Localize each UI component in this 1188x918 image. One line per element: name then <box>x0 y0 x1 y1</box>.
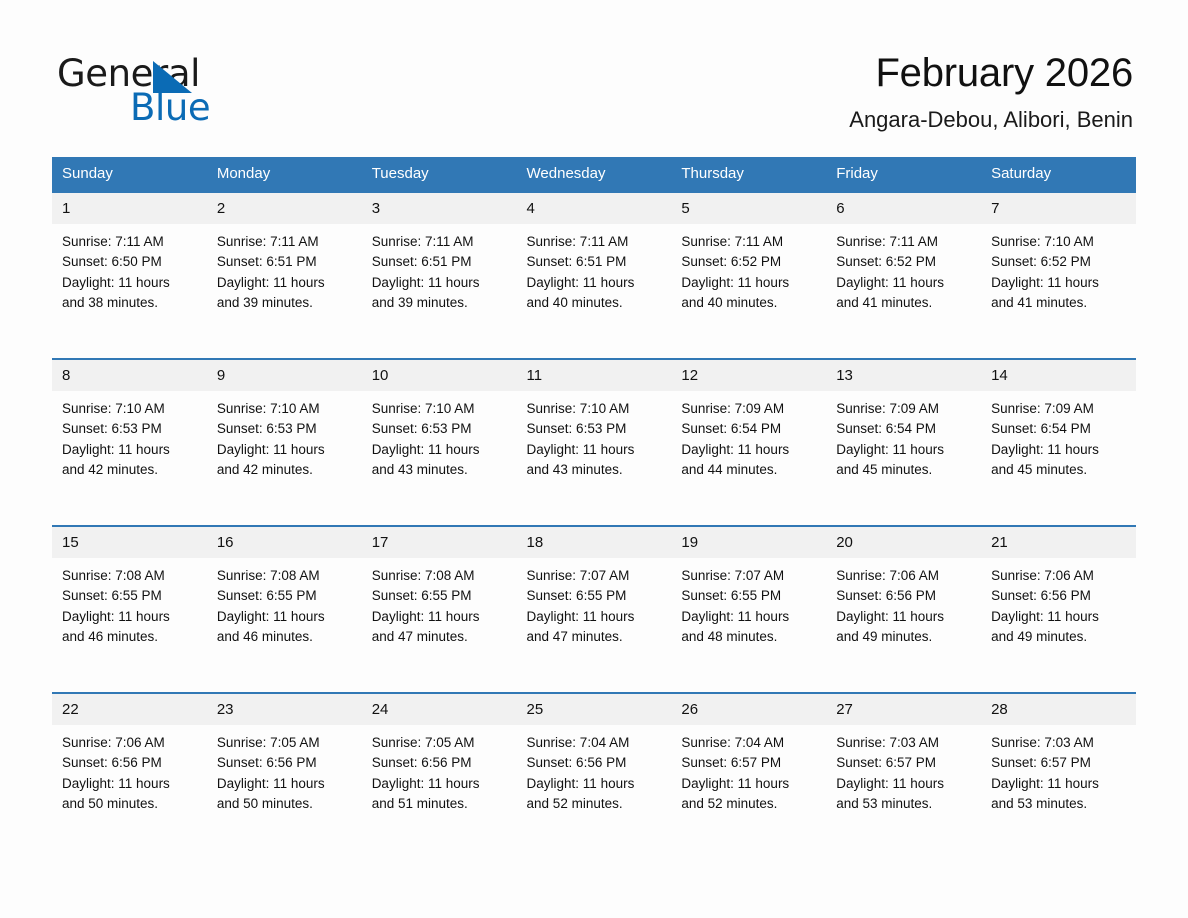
day-cell[interactable]: 5 Sunrise: 7:11 AM Sunset: 6:52 PM Dayli… <box>671 192 826 359</box>
day-details: Sunrise: 7:03 AM Sunset: 6:57 PM Dayligh… <box>981 725 1136 814</box>
day-details: Sunrise: 7:05 AM Sunset: 6:56 PM Dayligh… <box>362 725 517 814</box>
day-details: Sunrise: 7:10 AM Sunset: 6:53 PM Dayligh… <box>362 391 517 480</box>
daylight-text-line1: Daylight: 11 hours <box>527 273 664 293</box>
day-details: Sunrise: 7:07 AM Sunset: 6:55 PM Dayligh… <box>517 558 672 647</box>
sunset-text: Sunset: 6:57 PM <box>836 753 973 773</box>
daylight-text-line1: Daylight: 11 hours <box>217 607 354 627</box>
sunrise-text: Sunrise: 7:05 AM <box>217 733 354 753</box>
day-number: 16 <box>207 527 362 558</box>
day-cell[interactable]: 10 Sunrise: 7:10 AM Sunset: 6:53 PM Dayl… <box>362 359 517 526</box>
sunrise-text: Sunrise: 7:11 AM <box>62 232 199 252</box>
daylight-text-line1: Daylight: 11 hours <box>217 273 354 293</box>
daylight-text-line2: and 50 minutes. <box>62 794 199 814</box>
sunset-text: Sunset: 6:55 PM <box>217 586 354 606</box>
sunset-text: Sunset: 6:52 PM <box>991 252 1128 272</box>
page-subtitle: Angara-Debou, Alibori, Benin <box>849 106 1133 134</box>
day-number: 8 <box>52 360 207 391</box>
day-details: Sunrise: 7:03 AM Sunset: 6:57 PM Dayligh… <box>826 725 981 814</box>
sunrise-text: Sunrise: 7:08 AM <box>372 566 509 586</box>
sunset-text: Sunset: 6:52 PM <box>836 252 973 272</box>
day-number: 1 <box>52 193 207 224</box>
daylight-text-line2: and 50 minutes. <box>217 794 354 814</box>
sunset-text: Sunset: 6:56 PM <box>991 586 1128 606</box>
sunset-text: Sunset: 6:57 PM <box>681 753 818 773</box>
day-cell[interactable]: 6 Sunrise: 7:11 AM Sunset: 6:52 PM Dayli… <box>826 192 981 359</box>
day-number: 27 <box>826 694 981 725</box>
day-details: Sunrise: 7:11 AM Sunset: 6:50 PM Dayligh… <box>52 224 207 313</box>
daylight-text-line2: and 53 minutes. <box>836 794 973 814</box>
sunrise-text: Sunrise: 7:07 AM <box>681 566 818 586</box>
daylight-text-line2: and 41 minutes. <box>836 293 973 313</box>
sunset-text: Sunset: 6:52 PM <box>681 252 818 272</box>
day-cell[interactable]: 28 Sunrise: 7:03 AM Sunset: 6:57 PM Dayl… <box>981 693 1136 859</box>
day-number: 14 <box>981 360 1136 391</box>
calendar-header-row: Sunday Monday Tuesday Wednesday Thursday… <box>52 157 1136 192</box>
sunset-text: Sunset: 6:57 PM <box>991 753 1128 773</box>
sunrise-text: Sunrise: 7:11 AM <box>372 232 509 252</box>
page-header: General Blue February 2026 Angara-Debou,… <box>0 0 1188 155</box>
sunrise-text: Sunrise: 7:03 AM <box>991 733 1128 753</box>
daylight-text-line2: and 48 minutes. <box>681 627 818 647</box>
weekday-header-wednesday: Wednesday <box>517 157 672 192</box>
daylight-text-line1: Daylight: 11 hours <box>217 440 354 460</box>
calendar-week-row: 15 Sunrise: 7:08 AM Sunset: 6:55 PM Dayl… <box>52 526 1136 693</box>
daylight-text-line2: and 52 minutes. <box>681 794 818 814</box>
sunrise-text: Sunrise: 7:10 AM <box>217 399 354 419</box>
sunrise-text: Sunrise: 7:03 AM <box>836 733 973 753</box>
daylight-text-line2: and 46 minutes. <box>62 627 199 647</box>
sunset-text: Sunset: 6:54 PM <box>991 419 1128 439</box>
page-title: February 2026 <box>849 48 1133 98</box>
day-details: Sunrise: 7:06 AM Sunset: 6:56 PM Dayligh… <box>52 725 207 814</box>
sunset-text: Sunset: 6:50 PM <box>62 252 199 272</box>
sunset-text: Sunset: 6:56 PM <box>217 753 354 773</box>
day-number: 24 <box>362 694 517 725</box>
sunrise-text: Sunrise: 7:07 AM <box>527 566 664 586</box>
day-details: Sunrise: 7:08 AM Sunset: 6:55 PM Dayligh… <box>52 558 207 647</box>
daylight-text-line1: Daylight: 11 hours <box>527 774 664 794</box>
day-number: 15 <box>52 527 207 558</box>
daylight-text-line2: and 45 minutes. <box>991 460 1128 480</box>
day-details: Sunrise: 7:07 AM Sunset: 6:55 PM Dayligh… <box>671 558 826 647</box>
day-cell[interactable]: 9 Sunrise: 7:10 AM Sunset: 6:53 PM Dayli… <box>207 359 362 526</box>
day-cell[interactable]: 14 Sunrise: 7:09 AM Sunset: 6:54 PM Dayl… <box>981 359 1136 526</box>
day-cell[interactable]: 23 Sunrise: 7:05 AM Sunset: 6:56 PM Dayl… <box>207 693 362 859</box>
daylight-text-line1: Daylight: 11 hours <box>527 607 664 627</box>
calendar-week-row: 8 Sunrise: 7:10 AM Sunset: 6:53 PM Dayli… <box>52 359 1136 526</box>
day-cell[interactable]: 18 Sunrise: 7:07 AM Sunset: 6:55 PM Dayl… <box>517 526 672 693</box>
daylight-text-line1: Daylight: 11 hours <box>836 273 973 293</box>
sunrise-text: Sunrise: 7:06 AM <box>991 566 1128 586</box>
day-number: 19 <box>671 527 826 558</box>
daylight-text-line2: and 42 minutes. <box>217 460 354 480</box>
day-details: Sunrise: 7:06 AM Sunset: 6:56 PM Dayligh… <box>826 558 981 647</box>
daylight-text-line2: and 42 minutes. <box>62 460 199 480</box>
day-details: Sunrise: 7:10 AM Sunset: 6:53 PM Dayligh… <box>207 391 362 480</box>
daylight-text-line2: and 49 minutes. <box>991 627 1128 647</box>
day-number: 18 <box>517 527 672 558</box>
daylight-text-line1: Daylight: 11 hours <box>836 440 973 460</box>
day-number: 5 <box>671 193 826 224</box>
daylight-text-line2: and 41 minutes. <box>991 293 1128 313</box>
sunrise-text: Sunrise: 7:05 AM <box>372 733 509 753</box>
daylight-text-line2: and 43 minutes. <box>372 460 509 480</box>
sunrise-text: Sunrise: 7:10 AM <box>372 399 509 419</box>
daylight-text-line2: and 39 minutes. <box>217 293 354 313</box>
sunset-text: Sunset: 6:56 PM <box>372 753 509 773</box>
daylight-text-line1: Daylight: 11 hours <box>372 440 509 460</box>
sunrise-text: Sunrise: 7:08 AM <box>217 566 354 586</box>
daylight-text-line2: and 52 minutes. <box>527 794 664 814</box>
day-cell[interactable]: 8 Sunrise: 7:10 AM Sunset: 6:53 PM Dayli… <box>52 359 207 526</box>
day-details: Sunrise: 7:11 AM Sunset: 6:52 PM Dayligh… <box>826 224 981 313</box>
day-number: 3 <box>362 193 517 224</box>
weekday-header-sunday: Sunday <box>52 157 207 192</box>
calendar-page: General Blue February 2026 Angara-Debou,… <box>0 0 1188 918</box>
sunset-text: Sunset: 6:53 PM <box>527 419 664 439</box>
day-details: Sunrise: 7:09 AM Sunset: 6:54 PM Dayligh… <box>826 391 981 480</box>
day-details: Sunrise: 7:08 AM Sunset: 6:55 PM Dayligh… <box>362 558 517 647</box>
day-details: Sunrise: 7:04 AM Sunset: 6:56 PM Dayligh… <box>517 725 672 814</box>
day-details: Sunrise: 7:05 AM Sunset: 6:56 PM Dayligh… <box>207 725 362 814</box>
daylight-text-line1: Daylight: 11 hours <box>372 774 509 794</box>
sunrise-text: Sunrise: 7:11 AM <box>836 232 973 252</box>
day-cell[interactable]: 25 Sunrise: 7:04 AM Sunset: 6:56 PM Dayl… <box>517 693 672 859</box>
sunset-text: Sunset: 6:51 PM <box>217 252 354 272</box>
day-cell[interactable]: 27 Sunrise: 7:03 AM Sunset: 6:57 PM Dayl… <box>826 693 981 859</box>
day-number: 28 <box>981 694 1136 725</box>
day-details: Sunrise: 7:10 AM Sunset: 6:53 PM Dayligh… <box>52 391 207 480</box>
day-cell[interactable]: 12 Sunrise: 7:09 AM Sunset: 6:54 PM Dayl… <box>671 359 826 526</box>
daylight-text-line1: Daylight: 11 hours <box>62 440 199 460</box>
sunset-text: Sunset: 6:53 PM <box>62 419 199 439</box>
calendar-week-row: 1 Sunrise: 7:11 AM Sunset: 6:50 PM Dayli… <box>52 192 1136 359</box>
day-cell[interactable]: 2 Sunrise: 7:11 AM Sunset: 6:51 PM Dayli… <box>207 192 362 359</box>
day-number: 12 <box>671 360 826 391</box>
title-block: February 2026 Angara-Debou, Alibori, Ben… <box>849 48 1133 134</box>
sunrise-text: Sunrise: 7:10 AM <box>62 399 199 419</box>
day-details: Sunrise: 7:06 AM Sunset: 6:56 PM Dayligh… <box>981 558 1136 647</box>
sunrise-text: Sunrise: 7:09 AM <box>681 399 818 419</box>
day-cell[interactable]: 19 Sunrise: 7:07 AM Sunset: 6:55 PM Dayl… <box>671 526 826 693</box>
weekday-header-monday: Monday <box>207 157 362 192</box>
day-number: 9 <box>207 360 362 391</box>
day-details: Sunrise: 7:10 AM Sunset: 6:53 PM Dayligh… <box>517 391 672 480</box>
day-cell[interactable]: 7 Sunrise: 7:10 AM Sunset: 6:52 PM Dayli… <box>981 192 1136 359</box>
sunrise-text: Sunrise: 7:11 AM <box>527 232 664 252</box>
sunset-text: Sunset: 6:55 PM <box>681 586 818 606</box>
calendar-week-row: 22 Sunrise: 7:06 AM Sunset: 6:56 PM Dayl… <box>52 693 1136 859</box>
day-number: 22 <box>52 694 207 725</box>
day-number: 25 <box>517 694 672 725</box>
day-number: 6 <box>826 193 981 224</box>
day-details: Sunrise: 7:11 AM Sunset: 6:52 PM Dayligh… <box>671 224 826 313</box>
sunrise-text: Sunrise: 7:10 AM <box>991 232 1128 252</box>
logo-text-blue: Blue <box>130 86 210 130</box>
day-cell[interactable]: 21 Sunrise: 7:06 AM Sunset: 6:56 PM Dayl… <box>981 526 1136 693</box>
day-cell[interactable]: 1 Sunrise: 7:11 AM Sunset: 6:50 PM Dayli… <box>52 192 207 359</box>
day-number: 10 <box>362 360 517 391</box>
daylight-text-line1: Daylight: 11 hours <box>836 607 973 627</box>
daylight-text-line1: Daylight: 11 hours <box>681 273 818 293</box>
day-number: 13 <box>826 360 981 391</box>
day-details: Sunrise: 7:09 AM Sunset: 6:54 PM Dayligh… <box>671 391 826 480</box>
daylight-text-line1: Daylight: 11 hours <box>372 273 509 293</box>
daylight-text-line2: and 49 minutes. <box>836 627 973 647</box>
daylight-text-line1: Daylight: 11 hours <box>217 774 354 794</box>
daylight-text-line1: Daylight: 11 hours <box>991 440 1128 460</box>
sunset-text: Sunset: 6:51 PM <box>372 252 509 272</box>
sunset-text: Sunset: 6:51 PM <box>527 252 664 272</box>
day-number: 21 <box>981 527 1136 558</box>
weekday-header-tuesday: Tuesday <box>362 157 517 192</box>
day-cell[interactable]: 13 Sunrise: 7:09 AM Sunset: 6:54 PM Dayl… <box>826 359 981 526</box>
sunrise-sunset-calendar: Sunday Monday Tuesday Wednesday Thursday… <box>52 157 1136 859</box>
sunrise-text: Sunrise: 7:04 AM <box>681 733 818 753</box>
day-cell[interactable]: 15 Sunrise: 7:08 AM Sunset: 6:55 PM Dayl… <box>52 526 207 693</box>
day-cell[interactable]: 22 Sunrise: 7:06 AM Sunset: 6:56 PM Dayl… <box>52 693 207 859</box>
daylight-text-line1: Daylight: 11 hours <box>681 774 818 794</box>
day-number: 23 <box>207 694 362 725</box>
sunrise-text: Sunrise: 7:09 AM <box>991 399 1128 419</box>
sunrise-text: Sunrise: 7:08 AM <box>62 566 199 586</box>
generalblue-logo[interactable]: General Blue <box>57 52 317 130</box>
day-number: 7 <box>981 193 1136 224</box>
daylight-text-line1: Daylight: 11 hours <box>991 774 1128 794</box>
day-details: Sunrise: 7:10 AM Sunset: 6:52 PM Dayligh… <box>981 224 1136 313</box>
day-details: Sunrise: 7:04 AM Sunset: 6:57 PM Dayligh… <box>671 725 826 814</box>
day-details: Sunrise: 7:11 AM Sunset: 6:51 PM Dayligh… <box>362 224 517 313</box>
daylight-text-line1: Daylight: 11 hours <box>62 607 199 627</box>
day-number: 26 <box>671 694 826 725</box>
daylight-text-line2: and 53 minutes. <box>991 794 1128 814</box>
weekday-header-thursday: Thursday <box>671 157 826 192</box>
day-cell[interactable]: 24 Sunrise: 7:05 AM Sunset: 6:56 PM Dayl… <box>362 693 517 859</box>
sunset-text: Sunset: 6:55 PM <box>62 586 199 606</box>
day-details: Sunrise: 7:11 AM Sunset: 6:51 PM Dayligh… <box>207 224 362 313</box>
daylight-text-line1: Daylight: 11 hours <box>681 607 818 627</box>
daylight-text-line2: and 44 minutes. <box>681 460 818 480</box>
sunset-text: Sunset: 6:53 PM <box>217 419 354 439</box>
sunset-text: Sunset: 6:55 PM <box>372 586 509 606</box>
sunset-text: Sunset: 6:54 PM <box>836 419 973 439</box>
daylight-text-line1: Daylight: 11 hours <box>836 774 973 794</box>
calendar-body: 1 Sunrise: 7:11 AM Sunset: 6:50 PM Dayli… <box>52 192 1136 859</box>
day-number: 20 <box>826 527 981 558</box>
daylight-text-line2: and 39 minutes. <box>372 293 509 313</box>
day-number: 11 <box>517 360 672 391</box>
sunset-text: Sunset: 6:55 PM <box>527 586 664 606</box>
sunrise-text: Sunrise: 7:06 AM <box>62 733 199 753</box>
daylight-text-line1: Daylight: 11 hours <box>991 607 1128 627</box>
sunset-text: Sunset: 6:56 PM <box>836 586 973 606</box>
weekday-header-friday: Friday <box>826 157 981 192</box>
day-details: Sunrise: 7:08 AM Sunset: 6:55 PM Dayligh… <box>207 558 362 647</box>
day-cell[interactable]: 4 Sunrise: 7:11 AM Sunset: 6:51 PM Dayli… <box>517 192 672 359</box>
daylight-text-line2: and 45 minutes. <box>836 460 973 480</box>
day-cell[interactable]: 26 Sunrise: 7:04 AM Sunset: 6:57 PM Dayl… <box>671 693 826 859</box>
day-cell[interactable]: 3 Sunrise: 7:11 AM Sunset: 6:51 PM Dayli… <box>362 192 517 359</box>
daylight-text-line2: and 51 minutes. <box>372 794 509 814</box>
day-details: Sunrise: 7:11 AM Sunset: 6:51 PM Dayligh… <box>517 224 672 313</box>
day-cell[interactable]: 11 Sunrise: 7:10 AM Sunset: 6:53 PM Dayl… <box>517 359 672 526</box>
day-cell[interactable]: 16 Sunrise: 7:08 AM Sunset: 6:55 PM Dayl… <box>207 526 362 693</box>
sunrise-text: Sunrise: 7:11 AM <box>217 232 354 252</box>
sunrise-text: Sunrise: 7:10 AM <box>527 399 664 419</box>
daylight-text-line2: and 40 minutes. <box>681 293 818 313</box>
sunrise-text: Sunrise: 7:04 AM <box>527 733 664 753</box>
sunset-text: Sunset: 6:54 PM <box>681 419 818 439</box>
day-details: Sunrise: 7:09 AM Sunset: 6:54 PM Dayligh… <box>981 391 1136 480</box>
daylight-text-line1: Daylight: 11 hours <box>372 607 509 627</box>
day-cell[interactable]: 17 Sunrise: 7:08 AM Sunset: 6:55 PM Dayl… <box>362 526 517 693</box>
daylight-text-line1: Daylight: 11 hours <box>62 774 199 794</box>
daylight-text-line1: Daylight: 11 hours <box>62 273 199 293</box>
daylight-text-line2: and 43 minutes. <box>527 460 664 480</box>
sunrise-text: Sunrise: 7:09 AM <box>836 399 973 419</box>
sunrise-text: Sunrise: 7:06 AM <box>836 566 973 586</box>
daylight-text-line2: and 47 minutes. <box>527 627 664 647</box>
daylight-text-line1: Daylight: 11 hours <box>527 440 664 460</box>
daylight-text-line1: Daylight: 11 hours <box>681 440 818 460</box>
daylight-text-line2: and 40 minutes. <box>527 293 664 313</box>
daylight-text-line2: and 38 minutes. <box>62 293 199 313</box>
day-number: 4 <box>517 193 672 224</box>
day-cell[interactable]: 20 Sunrise: 7:06 AM Sunset: 6:56 PM Dayl… <box>826 526 981 693</box>
day-number: 17 <box>362 527 517 558</box>
day-number: 2 <box>207 193 362 224</box>
daylight-text-line1: Daylight: 11 hours <box>991 273 1128 293</box>
sunset-text: Sunset: 6:56 PM <box>527 753 664 773</box>
sunrise-text: Sunrise: 7:11 AM <box>681 232 818 252</box>
weekday-header-saturday: Saturday <box>981 157 1136 192</box>
daylight-text-line2: and 46 minutes. <box>217 627 354 647</box>
sunset-text: Sunset: 6:56 PM <box>62 753 199 773</box>
sunset-text: Sunset: 6:53 PM <box>372 419 509 439</box>
daylight-text-line2: and 47 minutes. <box>372 627 509 647</box>
